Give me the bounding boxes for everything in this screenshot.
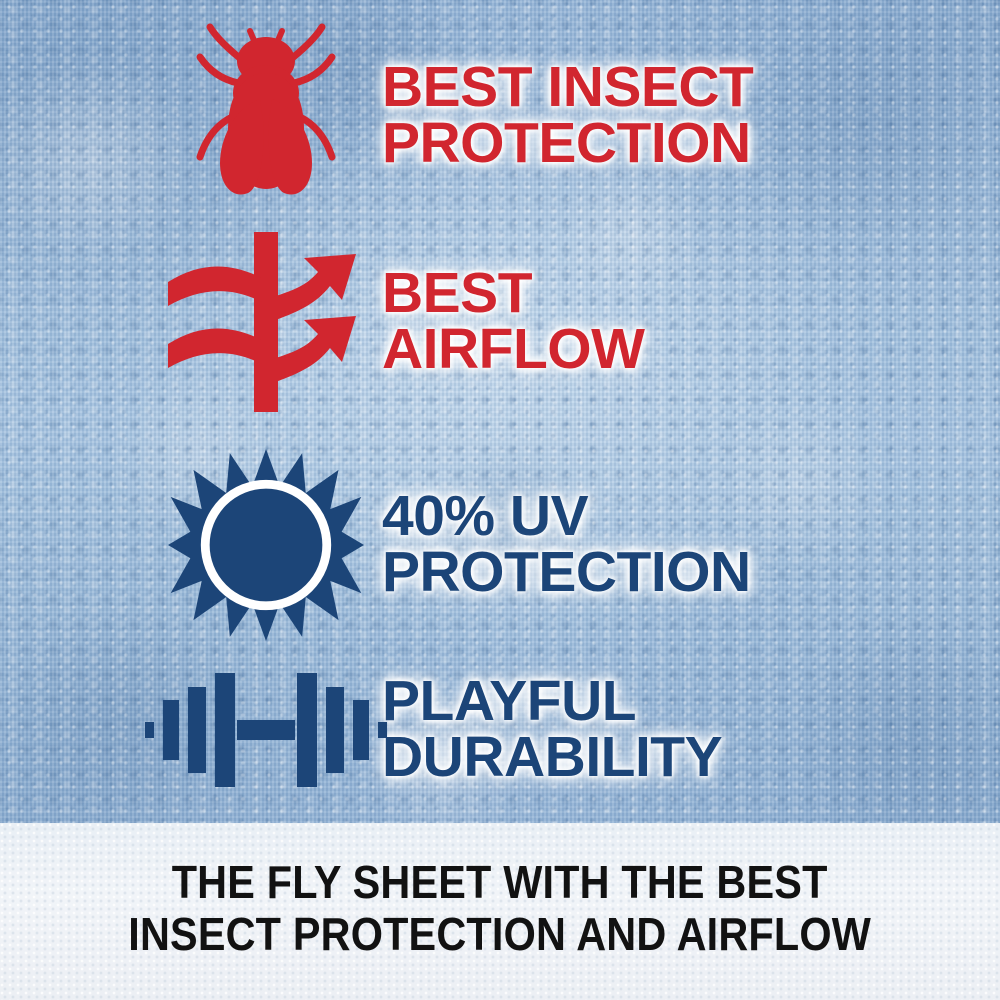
airflow-arrows-icon xyxy=(166,232,366,412)
caption-headline: THE FLY SHEET WITH THE BEST INSECT PROTE… xyxy=(129,857,872,966)
feature-row-airflow: BEST AIRFLOW xyxy=(150,222,1000,422)
dumbbell-icon xyxy=(141,665,391,795)
sun-icon-container xyxy=(150,440,382,650)
feature-label-insect-protection: BEST INSECT PROTECTION xyxy=(382,60,1000,172)
durability-text-container: PLAYFUL DURABILITY xyxy=(382,674,1000,786)
fly-icon-container xyxy=(150,18,382,214)
insect-protection-text-container: BEST INSECT PROTECTION xyxy=(382,60,1000,172)
caption-band: THE FLY SHEET WITH THE BEST INSECT PROTE… xyxy=(0,823,1000,1000)
sun-uv-icon xyxy=(168,447,364,643)
uv-protection-text-container: 40% UV PROTECTION xyxy=(382,489,1000,601)
feature-row-uv-protection: 40% UV PROTECTION xyxy=(150,440,1000,650)
dumbbell-icon-container xyxy=(150,650,382,810)
fly-icon xyxy=(186,21,346,211)
feature-list: BEST INSECT PROTECTION xyxy=(0,0,1000,823)
feature-row-durability: PLAYFUL DURABILITY xyxy=(150,650,1000,810)
airflow-text-container: BEST AIRFLOW xyxy=(382,266,1000,378)
feature-row-insect-protection: BEST INSECT PROTECTION xyxy=(150,18,1000,214)
feature-label-uv-protection: 40% UV PROTECTION xyxy=(382,489,1000,601)
feature-label-durability: PLAYFUL DURABILITY xyxy=(382,674,1000,786)
airflow-icon-container xyxy=(150,222,382,422)
feature-label-airflow: BEST AIRFLOW xyxy=(382,266,1000,378)
product-feature-infographic: BEST INSECT PROTECTION xyxy=(0,0,1000,1000)
